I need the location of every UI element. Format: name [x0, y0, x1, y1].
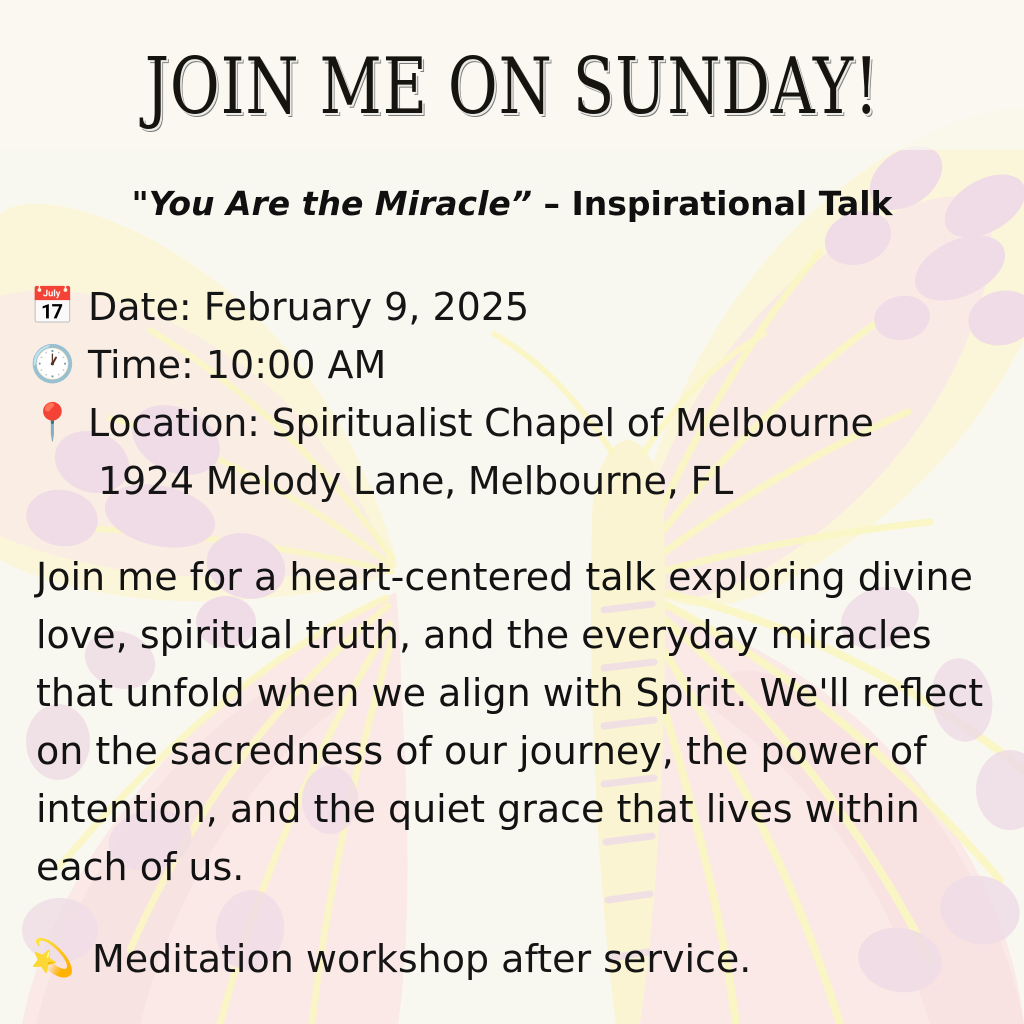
location-pin-icon: 📍	[30, 394, 88, 452]
footer-note-text: Meditation workshop after service.	[92, 930, 751, 988]
subtitle-tail: – Inspirational Talk	[532, 184, 892, 223]
footer-note: 💫 Meditation workshop after service.	[30, 930, 1005, 988]
detail-date-text: Date: February 9, 2025	[88, 278, 529, 336]
subtitle: "You Are the Miracle” – Inspirational Ta…	[0, 186, 1024, 222]
detail-location-address: 1924 Melody Lane, Melbourne, FL	[98, 452, 733, 510]
clock-icon: 🕐	[30, 336, 88, 394]
detail-row-address: 1924 Melody Lane, Melbourne, FL	[30, 452, 1005, 510]
detail-row-time: 🕐 Time: 10:00 AM	[30, 336, 1005, 394]
calendar-icon: 📅	[30, 278, 88, 336]
flyer-canvas: JOIN ME ON SUNDAY! "You Are the Miracle”…	[0, 0, 1024, 1024]
detail-time-text: Time: 10:00 AM	[88, 336, 386, 394]
event-details: 📅 Date: February 9, 2025 🕐 Time: 10:00 A…	[30, 278, 1005, 510]
detail-location-venue: Location: Spiritualist Chapel of Melbour…	[88, 394, 874, 452]
page-title: JOIN ME ON SUNDAY!	[113, 48, 912, 126]
body-paragraph: Join me for a heart-centered talk explor…	[36, 548, 996, 896]
subtitle-quoted-title: "You Are the Miracle”	[132, 184, 533, 223]
detail-row-location: 📍 Location: Spiritualist Chapel of Melbo…	[30, 394, 1005, 452]
detail-row-date: 📅 Date: February 9, 2025	[30, 278, 1005, 336]
dizzy-star-icon: 💫	[30, 930, 92, 988]
